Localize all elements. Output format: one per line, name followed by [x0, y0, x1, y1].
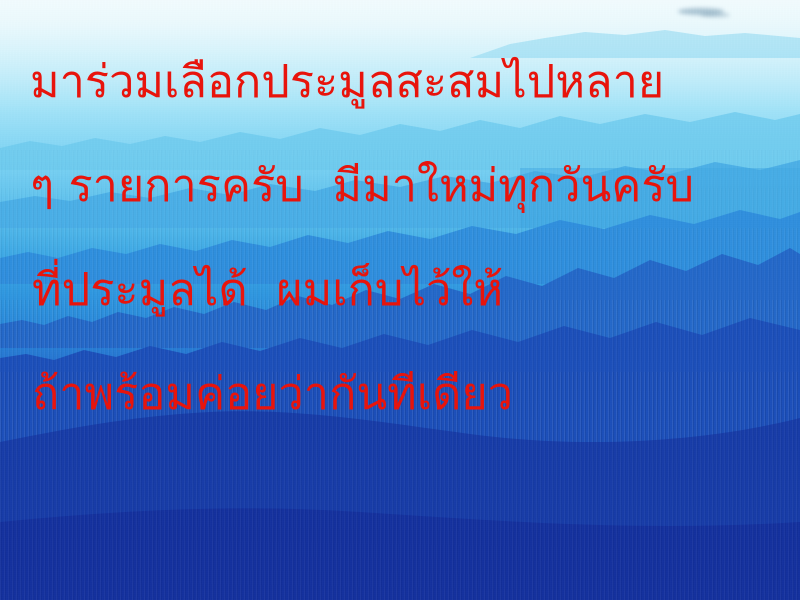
cloud-wisp-secondary-icon: [700, 13, 730, 17]
foreground-slope: [0, 372, 800, 600]
image-canvas: มาร่วมเลือกประมูลสะสมไปหลาย ๆ รายการครับ…: [0, 0, 800, 600]
far-haze-ridge: [0, 18, 800, 58]
